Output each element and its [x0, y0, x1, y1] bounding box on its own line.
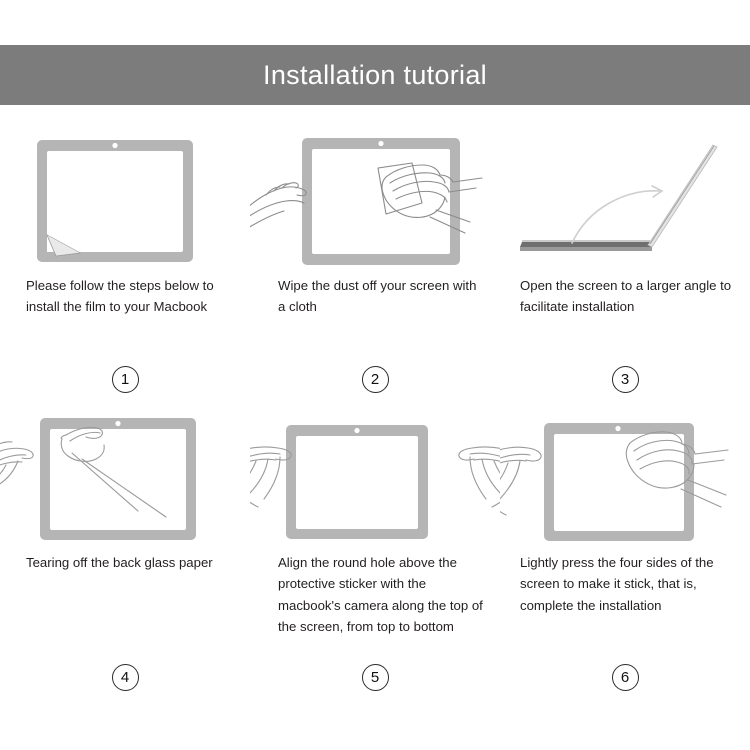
step-4-caption: Tearing off the back glass paper	[26, 552, 224, 573]
step-card-3: Open the screen to a larger angle to fac…	[500, 125, 750, 407]
step-6-illustration	[500, 407, 750, 552]
step-3-caption: Open the screen to a larger angle to fac…	[520, 275, 745, 318]
step-card-2: Wipe the dust off your screen with a clo…	[250, 125, 500, 407]
step-1-caption: Please follow the steps below to install…	[26, 275, 224, 318]
step-card-1: Please follow the steps below to install…	[0, 125, 250, 407]
step-3-illustration	[500, 125, 750, 275]
left-hand-icon	[500, 447, 541, 515]
screen-bezel-icon	[302, 138, 460, 265]
step-4-badge: 4	[112, 664, 139, 691]
step-6-caption: Lightly press the four sides of the scre…	[520, 552, 745, 616]
step-2-caption: Wipe the dust off your screen with a clo…	[278, 275, 483, 318]
steps-grid: Please follow the steps below to install…	[0, 125, 750, 707]
left-hand-icon	[250, 447, 291, 507]
step-3-badge: 3	[612, 366, 639, 393]
step-6-badge: 6	[612, 664, 639, 691]
header-bar: Installation tutorial	[0, 45, 750, 105]
step-card-5: Align the round hole above the protectiv…	[250, 407, 500, 707]
right-hand-icon	[459, 447, 500, 507]
screen-bezel-icon	[286, 425, 428, 539]
steps-row-1: Please follow the steps below to install…	[0, 125, 750, 407]
laptop-base-icon	[520, 240, 652, 251]
page-title: Installation tutorial	[263, 62, 487, 89]
step-2-illustration	[250, 125, 500, 275]
laptop-screen-icon	[648, 145, 717, 247]
step-card-6: Lightly press the four sides of the scre…	[500, 407, 750, 707]
open-arrow-icon	[572, 186, 662, 243]
step-1-badge: 1	[112, 366, 139, 393]
step-5-illustration	[250, 407, 500, 552]
step-card-4: Tearing off the back glass paper 4	[0, 407, 250, 707]
step-2-badge: 2	[362, 366, 389, 393]
step-5-badge: 5	[362, 664, 389, 691]
left-hand-icon	[250, 183, 306, 233]
left-hand-icon	[0, 442, 33, 485]
step-4-illustration	[0, 407, 250, 552]
steps-row-2: Tearing off the back glass paper 4	[0, 407, 750, 707]
step-1-illustration	[0, 125, 250, 275]
step-5-caption: Align the round hole above the protectiv…	[278, 552, 483, 638]
